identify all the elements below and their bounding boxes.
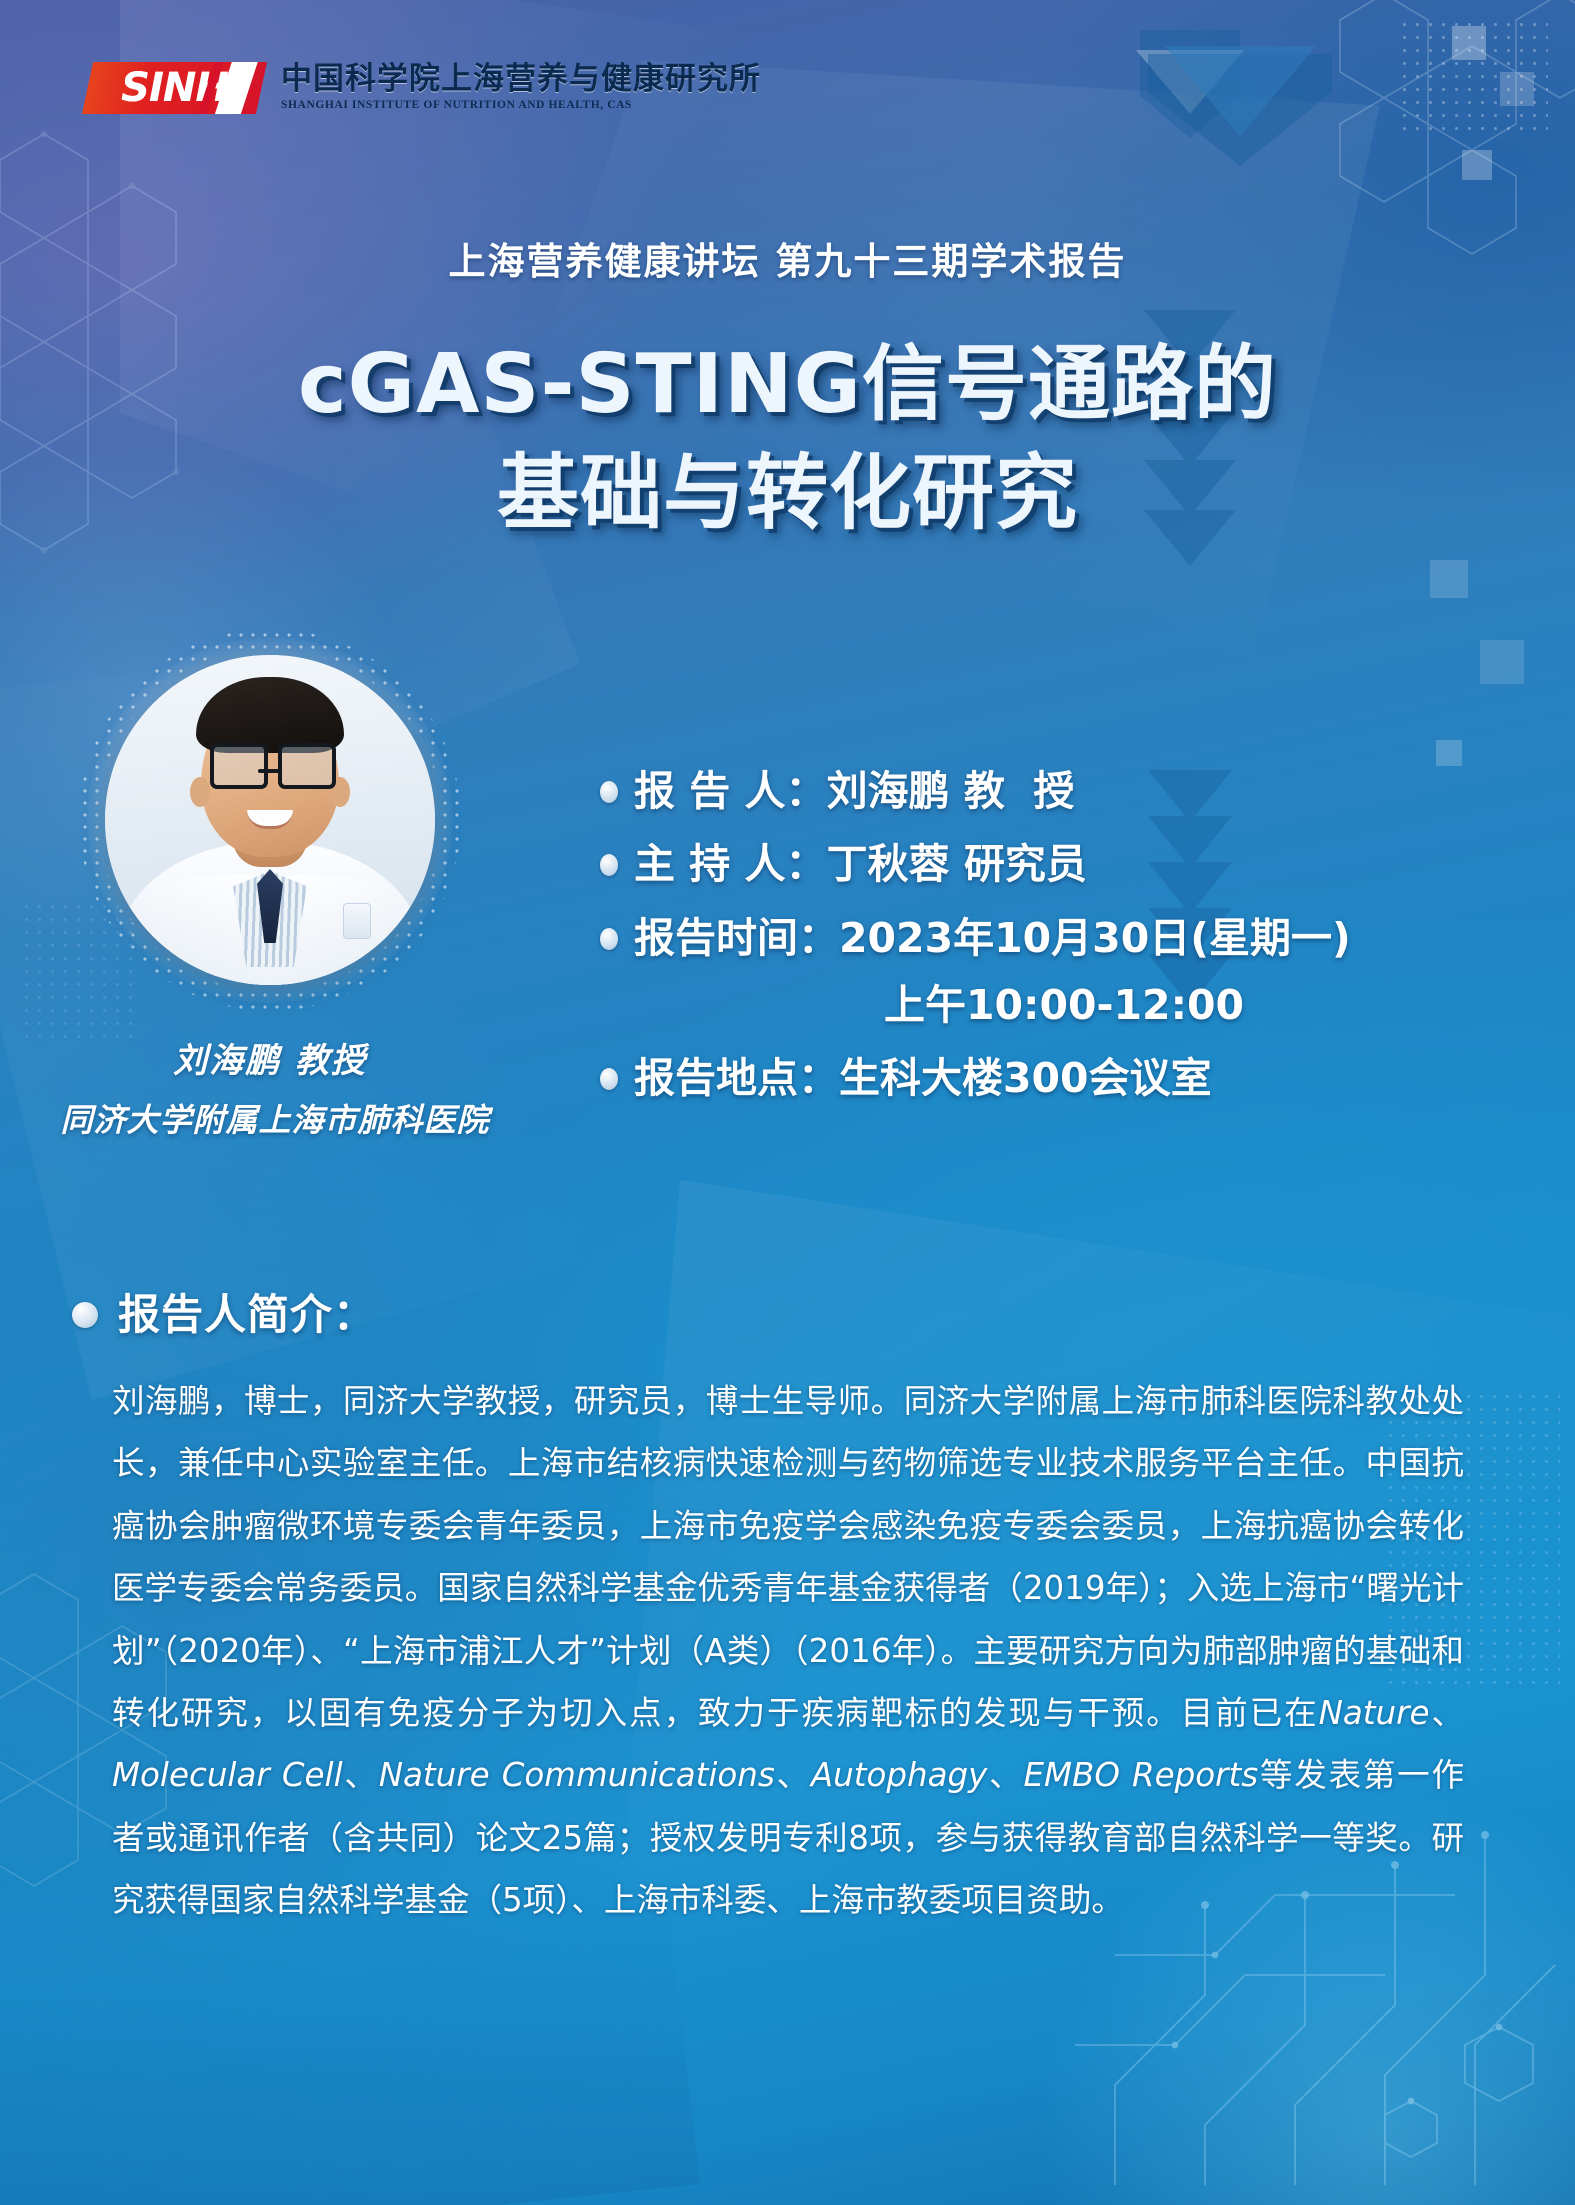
decorative-square [1436, 740, 1462, 766]
institute-logo: SINH 中国科学院上海营养与健康研究所 SHANGHAI INSTITUTE … [82, 62, 761, 114]
detail-row-time: 报告时间： 2023年10月30日(星期一) [600, 912, 1480, 964]
title-line-2: 基础与转化研究 [0, 439, 1575, 548]
detail-label: 报 告 人： [634, 765, 827, 817]
logo-wordmark: 中国科学院上海营养与健康研究所 SHANGHAI INSTITUTE OF NU… [281, 63, 761, 114]
decorative-square [1452, 26, 1486, 60]
speaker-affiliation: 同济大学附属上海市肺科医院 [40, 1100, 510, 1140]
institute-name-en: SHANGHAI INSTITUTE OF NUTRITION AND HEAL… [281, 99, 761, 112]
detail-label: 主 持 人： [634, 838, 827, 890]
detail-value-time-second: 上午10:00-12:00 [600, 979, 1480, 1031]
decorative-square [1480, 640, 1524, 684]
decorative-square [1430, 560, 1468, 598]
event-details: 报 告 人： 刘海鹏 教 授 主 持 人： 丁秋蓉 研究员 报告时间： 2023… [600, 765, 1480, 1125]
bullet-dot-icon [600, 928, 618, 950]
detail-row-host: 主 持 人： 丁秋蓉 研究员 [600, 838, 1480, 890]
seminar-poster: SINH 中国科学院上海营养与健康研究所 SHANGHAI INSTITUTE … [0, 0, 1575, 2205]
speaker-name: 刘海鹏 教授 [85, 1040, 455, 1083]
bio-paragraph: 刘海鹏，博士，同济大学教授，研究员，博士生导师。同济大学附属上海市肺科医院科教处… [112, 1370, 1464, 1932]
detail-value: 丁秋蓉 研究员 [827, 838, 1087, 890]
bullet-dot-icon [72, 1302, 98, 1328]
series-subtitle: 上海营养健康讲坛 第九十三期学术报告 [0, 240, 1575, 284]
detail-value: 2023年10月30日(星期一) [839, 912, 1351, 964]
detail-row-speaker: 报 告 人： 刘海鹏 教 授 [600, 765, 1480, 817]
sinh-logo-mark: SINH [82, 62, 267, 114]
avatar [105, 655, 435, 985]
eyeglasses-icon [210, 743, 268, 789]
page-title: cGAS-STING信号通路的 基础与转化研究 [0, 330, 1575, 548]
speaker-portrait-wrap [105, 655, 435, 985]
detail-value: 生科大楼300会议室 [839, 1052, 1212, 1104]
institute-name-cn: 中国科学院上海营养与健康研究所 [281, 63, 761, 96]
bio-heading-label: 报告人简介： [118, 1290, 376, 1340]
detail-row-location: 报告地点： 生科大楼300会议室 [600, 1052, 1480, 1104]
decorative-square [1500, 72, 1534, 106]
detail-label: 报告地点： [634, 1052, 839, 1104]
detail-value: 刘海鹏 教 授 [827, 765, 1075, 817]
hospital-badge [343, 903, 371, 939]
bio-heading: 报告人简介： [72, 1290, 376, 1340]
bullet-dot-icon [600, 854, 618, 876]
bullet-dot-icon [600, 1068, 618, 1090]
decorative-square [1462, 150, 1492, 180]
bullet-dot-icon [600, 781, 618, 803]
title-line-1: cGAS-STING信号通路的 [0, 330, 1575, 439]
detail-label: 报告时间： [634, 912, 839, 964]
